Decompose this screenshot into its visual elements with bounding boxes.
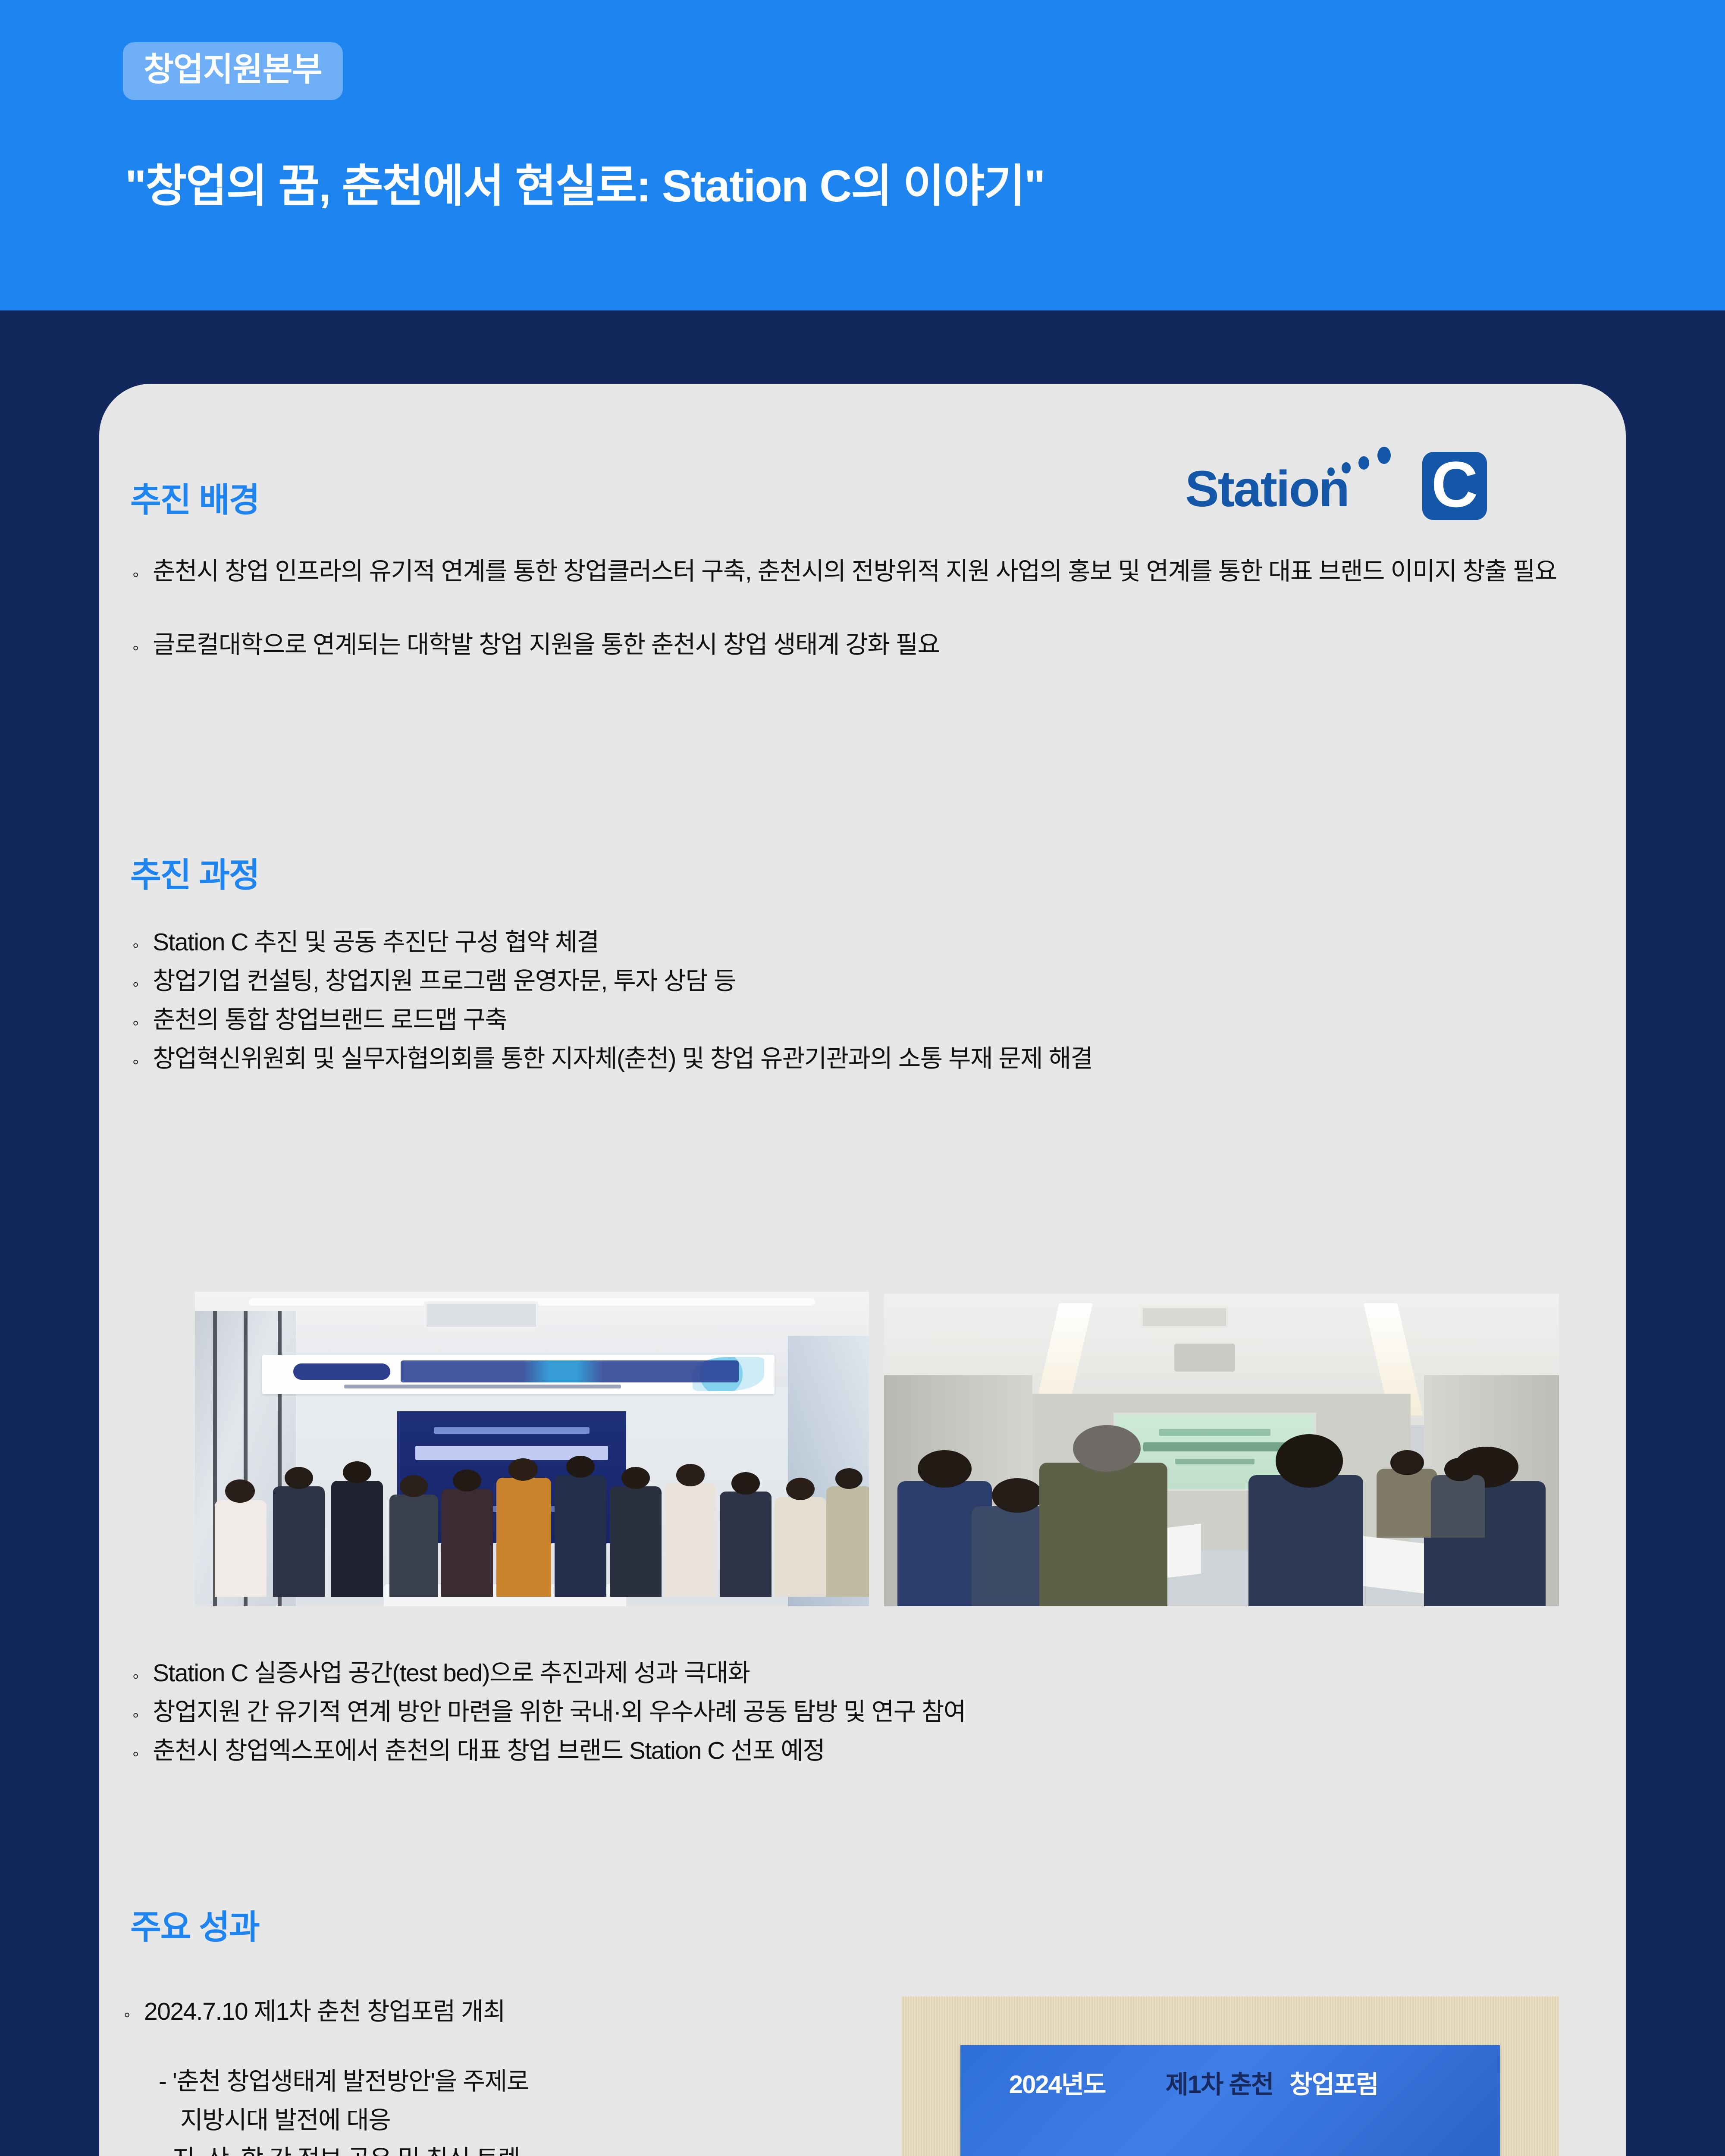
photo-meeting-group	[195, 1292, 869, 1606]
bullet-background-1: 。 춘천시 창업 인프라의 유기적 연계를 통한 창업클러스터 구축, 춘천시의…	[133, 554, 1586, 589]
bullet-background-2: 。 글로컬대학으로 연계되는 대학발 창업 지원을 통한 춘천시 창업 생태계 …	[133, 627, 1586, 662]
bullet-marker: 。	[133, 1695, 153, 1722]
bullet-process-2: 。 창업기업 컨설팅, 창업지원 프로그램 운영자문, 투자 상담 등	[133, 964, 1586, 999]
bullet-marker: 。	[133, 1041, 153, 1069]
department-badge: 창업지원본부	[123, 42, 343, 100]
bullet-achievements-1: 。 2024.7.10 제1차 춘천 창업포럼 개최	[124, 1994, 857, 2029]
page-header: 창업지원본부 "창업의 꿈, 춘천에서 현실로: Station C의 이야기"	[0, 0, 1725, 310]
logo-dots-icon	[1327, 447, 1405, 479]
bullet-marker: 。	[133, 925, 153, 953]
logo-c-mark: C	[1422, 452, 1487, 520]
bullet-process-after-1: 。 Station C 실증사업 공간(test bed)으로 추진과제 성과 …	[133, 1656, 1586, 1691]
photo-forum: 2024년도 제1차 춘천 창업포럼 일시 | 2024. 7. 10.(수) …	[901, 1996, 1559, 2156]
bullet-marker: 。	[133, 627, 153, 655]
photo-committee-meeting	[884, 1294, 1559, 1606]
section-title-background: 추진 배경	[130, 483, 259, 517]
bullet-process-after-3: 。 춘천시 창업엑스포에서 춘천의 대표 창업 브랜드 Station C 선포…	[133, 1733, 1586, 1768]
forum-banner-number: 제1차 춘천	[1165, 2072, 1273, 2097]
bullet-marker: 。	[133, 964, 153, 991]
bullet-marker: 。	[133, 1733, 153, 1761]
section-title-process: 추진 과정	[130, 858, 259, 892]
content-card: Station C 추진 배경 。 춘천시 창업 인프라의 유기적 연계를 통한…	[99, 384, 1626, 2156]
bullet-marker: 。	[133, 554, 153, 582]
bullet-process-after-2: 。 창업지원 간 유기적 연계 방안 마련을 위한 국내·외 우수사례 공동 탐…	[133, 1695, 1586, 1730]
subbullet-achievements-2: - 지, 산, 학 간 정보 공유 및 최신 트렌	[159, 2141, 857, 2156]
page-title: "창업의 꿈, 춘천에서 현실로: Station C의 이야기"	[125, 160, 1634, 213]
logo-wordmark: Station	[1185, 460, 1349, 518]
bullet-marker: 。	[133, 1656, 153, 1683]
subbullet-achievements-1-cont: 지방시대 발전에 대응	[180, 2102, 857, 2138]
bullet-process-4: 。 창업혁신위원회 및 실무자협의회를 통한 지자체(춘천) 및 창업 유관기관…	[133, 1041, 1586, 1076]
bullet-process-3: 。 춘천의 통합 창업브랜드 로드맵 구축	[133, 1003, 1586, 1037]
station-c-logo: Station C	[1185, 444, 1487, 526]
bullet-marker: 。	[124, 1994, 144, 2022]
section-title-achievements: 주요 성과	[130, 1910, 259, 1944]
bullet-process-1: 。 Station C 추진 및 공동 추진단 구성 협약 체결	[133, 925, 1586, 960]
forum-banner-name: 창업포럼	[1289, 2072, 1378, 2097]
subbullet-achievements-1: - '춘천 창업생태계 발전방안'을 주제로	[159, 2063, 857, 2100]
bullet-marker: 。	[133, 1003, 153, 1030]
forum-banner-year: 2024년도	[1009, 2072, 1106, 2097]
